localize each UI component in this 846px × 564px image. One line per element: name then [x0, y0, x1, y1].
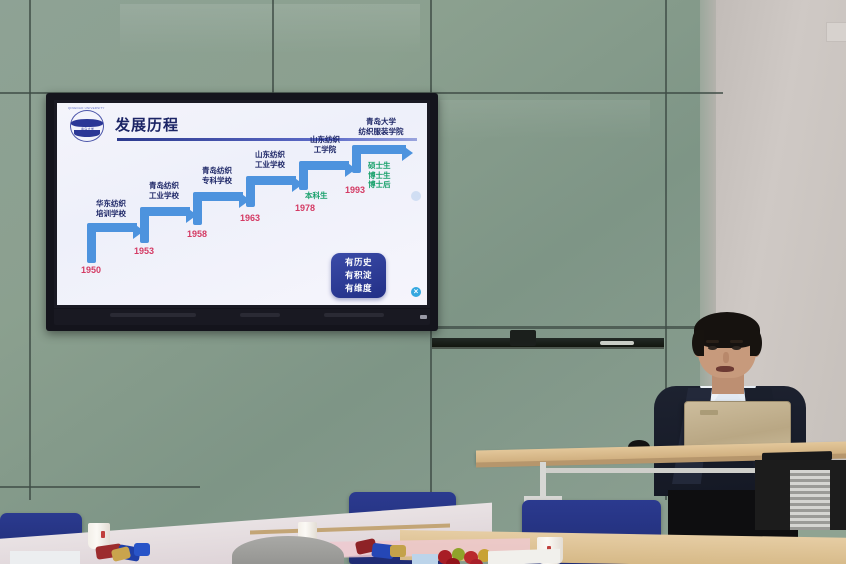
title-underline — [117, 138, 417, 141]
step-name-line2: 工学院 — [314, 145, 337, 154]
cable-rack — [790, 470, 830, 530]
wall-display[interactable]: 青岛大学 QINGDAO UNIVERSITY 发展历程 — [46, 93, 438, 331]
step-year: 1950 — [81, 265, 101, 275]
badge-line-2: 有积淀 — [331, 269, 386, 282]
step-note-undergrad: 本科生 — [305, 191, 328, 201]
blue-notepad[interactable] — [412, 554, 438, 564]
logo-chinese-text: 青岛大学 — [81, 127, 94, 131]
step-name-line2: 培训学校 — [96, 209, 126, 218]
table-leg — [540, 462, 546, 500]
display-screen[interactable]: 青岛大学 QINGDAO UNIVERSITY 发展历程 — [57, 103, 427, 305]
wall-glare-secondary — [440, 100, 650, 140]
step-name-line1: 华东纺织 — [96, 199, 126, 208]
step-year: 1958 — [187, 229, 207, 239]
wall-panel-line — [272, 0, 274, 95]
fruit — [446, 558, 460, 564]
badge-line-3: 有维度 — [331, 282, 386, 295]
step-name-line2: 专科学校 — [202, 176, 232, 185]
step-note-postdoc: 博士后 — [368, 180, 391, 189]
candy-wrapper — [390, 545, 406, 557]
step-name-line2: 纺织服装学院 — [359, 127, 404, 136]
presenter-eyebrow-left — [706, 340, 719, 343]
step-name-line2: 工业学校 — [255, 160, 285, 169]
display-bezel: 青岛大学 QINGDAO UNIVERSITY 发展历程 — [54, 100, 430, 308]
table-crossbar — [546, 468, 776, 473]
presenter-hair-side-right — [750, 330, 762, 356]
presenter-eye-right — [732, 346, 741, 350]
wall-panel-line — [430, 326, 723, 329]
meeting-room-photo: 青岛大学 QINGDAO UNIVERSITY 发展历程 — [0, 0, 846, 564]
step-name-line1: 山东纺织 — [255, 150, 285, 159]
step-note-master: 硕士生 — [368, 161, 391, 170]
presenter-nose — [723, 352, 729, 363]
badge-line-1: 有历史 — [331, 256, 386, 269]
step-year: 1993 — [345, 185, 365, 195]
rail-eraser[interactable] — [510, 330, 536, 346]
rail-marker-pen[interactable] — [600, 341, 634, 345]
step-name-line1: 青岛纺织 — [149, 181, 179, 190]
step-name-line1: 青岛纺织 — [202, 166, 232, 175]
display-chin — [54, 309, 430, 325]
wall-marking — [826, 22, 846, 42]
slide-title: 发展历程 — [115, 114, 179, 135]
slide-play-button[interactable] — [411, 191, 421, 201]
step-note-phd: 博士生 — [368, 171, 391, 180]
step-name-line1: 山东纺织 — [310, 135, 340, 144]
logo-english-text: QINGDAO UNIVERSITY — [68, 106, 105, 110]
step-name-line1: 青岛大学 — [366, 117, 396, 126]
whiteboard-rail-edge — [432, 347, 664, 349]
documents[interactable] — [488, 549, 560, 564]
step-year: 1953 — [134, 246, 154, 256]
candy-wrapper — [134, 543, 150, 556]
summary-badge: 有历史 有积淀 有维度 — [331, 253, 386, 298]
step-name-line2: 工业学校 — [149, 191, 179, 200]
wall-glare — [120, 4, 420, 54]
university-logo-icon: 青岛大学 — [70, 110, 104, 142]
step-year: 1963 — [240, 213, 260, 223]
presenter-hair-side-left — [692, 330, 704, 356]
documents[interactable] — [10, 551, 80, 564]
step-year: 1978 — [295, 203, 315, 213]
presenter-eye-left — [708, 346, 717, 350]
presentation-slide: 青岛大学 QINGDAO UNIVERSITY 发展历程 — [57, 103, 427, 305]
presenter-eyebrow-right — [730, 340, 743, 343]
display-power-indicator — [420, 315, 427, 319]
slide-close-button[interactable]: × — [411, 287, 421, 297]
wall-panel-line — [29, 0, 31, 500]
presenter-mouth — [716, 366, 734, 372]
laptop-brand-logo-icon — [700, 410, 718, 415]
fruit — [470, 559, 483, 564]
